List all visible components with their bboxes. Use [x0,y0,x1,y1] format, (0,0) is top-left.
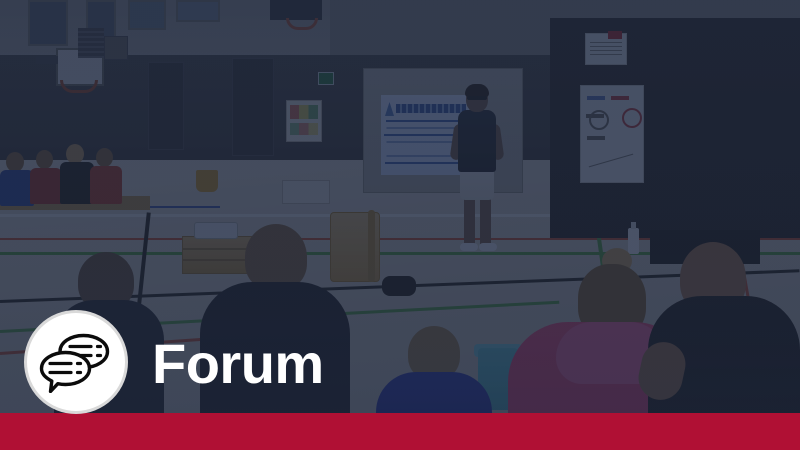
forum-banner-screenshot: Forum [0,0,800,450]
speech-bubbles-icon [39,331,113,393]
forum-logo-badge [24,310,128,414]
brand-bar [0,413,800,450]
forum-title: Forum [152,336,324,392]
